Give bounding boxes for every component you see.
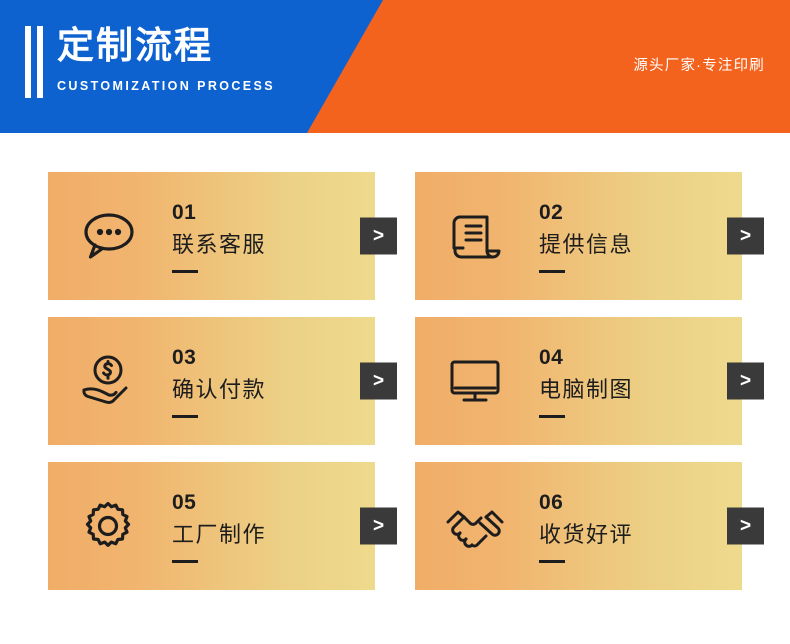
card-body: 01 联系客服 xyxy=(168,200,266,273)
process-step-card[interactable]: 02 提供信息 > xyxy=(415,172,742,300)
card-body: 04 电脑制图 xyxy=(535,345,633,418)
step-title: 联系客服 xyxy=(172,229,266,261)
step-title: 电脑制图 xyxy=(539,374,633,406)
next-step-arrow-button[interactable]: > xyxy=(727,508,764,545)
step-number: 05 xyxy=(172,490,266,516)
scroll-document-icon xyxy=(415,207,535,265)
process-step-card[interactable]: 06 收货好评 > xyxy=(415,462,742,590)
process-step-card[interactable]: 01 联系客服 > xyxy=(48,172,375,300)
customization-process-banner: 定制流程 CUSTOMIZATION PROCESS 源头厂家·专注印刷 01 … xyxy=(0,0,790,644)
next-step-arrow-button[interactable]: > xyxy=(360,218,397,255)
page-title: 定制流程 xyxy=(57,22,317,70)
step-dash xyxy=(539,560,565,563)
header-title-group: 定制流程 CUSTOMIZATION PROCESS xyxy=(57,22,317,96)
step-dash xyxy=(172,270,198,273)
step-title: 提供信息 xyxy=(539,229,633,261)
next-step-arrow-button[interactable]: > xyxy=(727,363,764,400)
header: 定制流程 CUSTOMIZATION PROCESS 源头厂家·专注印刷 xyxy=(0,0,790,133)
step-dash xyxy=(539,270,565,273)
gear-icon xyxy=(48,498,168,554)
next-step-arrow-button[interactable]: > xyxy=(360,508,397,545)
step-number: 04 xyxy=(539,345,633,371)
process-step-grid: 01 联系客服 > 02 提供信息 > xyxy=(48,172,742,590)
accent-bar-1 xyxy=(25,26,31,98)
step-dash xyxy=(539,415,565,418)
card-body: 02 提供信息 xyxy=(535,200,633,273)
step-title: 确认付款 xyxy=(172,374,266,406)
step-number: 01 xyxy=(172,200,266,226)
step-title: 收货好评 xyxy=(539,519,633,551)
step-dash xyxy=(172,560,198,563)
card-body: 03 确认付款 xyxy=(168,345,266,418)
process-step-card[interactable]: 03 确认付款 > xyxy=(48,317,375,445)
card-body: 06 收货好评 xyxy=(535,490,633,563)
card-body: 05 工厂制作 xyxy=(168,490,266,563)
next-step-arrow-button[interactable]: > xyxy=(727,218,764,255)
process-step-card[interactable]: 05 工厂制作 > xyxy=(48,462,375,590)
process-step-card[interactable]: 04 电脑制图 > xyxy=(415,317,742,445)
step-number: 02 xyxy=(539,200,633,226)
step-dash xyxy=(172,415,198,418)
hand-coin-icon xyxy=(48,353,168,409)
step-number: 06 xyxy=(539,490,633,516)
step-title: 工厂制作 xyxy=(172,519,266,551)
step-number: 03 xyxy=(172,345,266,371)
monitor-icon xyxy=(415,355,535,407)
next-step-arrow-button[interactable]: > xyxy=(360,363,397,400)
header-accent-bars xyxy=(25,26,43,98)
accent-bar-2 xyxy=(37,26,43,98)
handshake-icon xyxy=(415,498,535,554)
speech-bubble-icon xyxy=(48,210,168,262)
header-tagline: 源头厂家·专注印刷 xyxy=(633,55,765,77)
page-subtitle: CUSTOMIZATION PROCESS xyxy=(57,76,317,96)
